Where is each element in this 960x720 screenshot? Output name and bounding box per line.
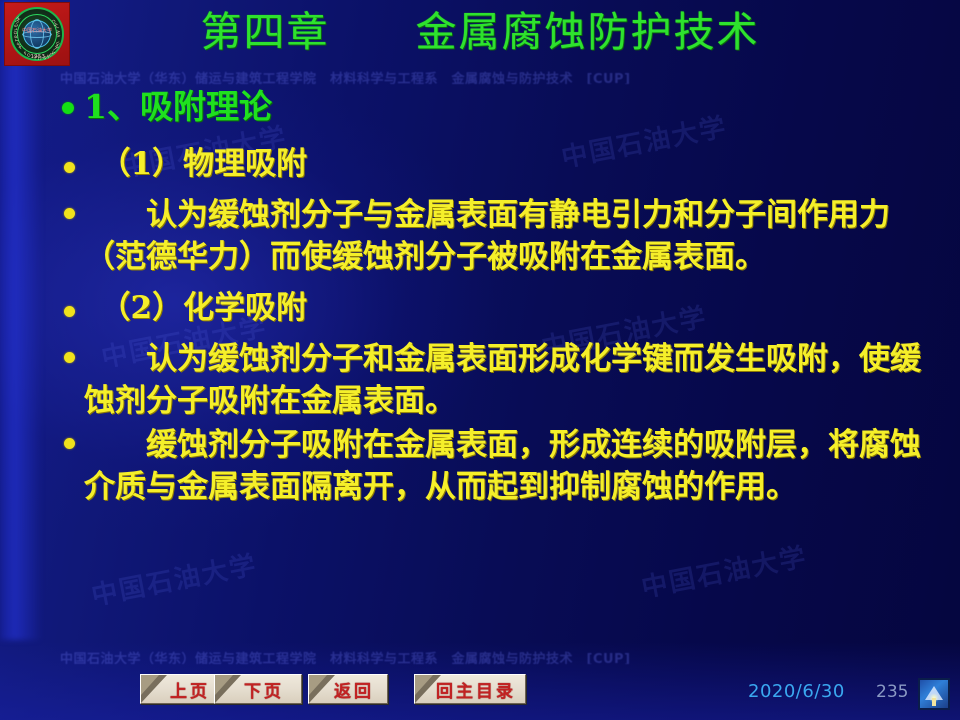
bullet-marker-icon xyxy=(62,102,74,114)
bullet-marker-icon xyxy=(64,306,75,317)
paragraph-text: 1、吸附理论 xyxy=(52,84,936,130)
slide-body: 1、吸附理论 （1）物理吸附 认为缓蚀剂分子与金属表面有静电引力和分子间作用力（… xyxy=(0,82,960,642)
bullet-paragraph: 1、吸附理论 xyxy=(0,84,960,134)
title-band: 中国石油大学 1953 CHINA UNIVERSITY OF PETROLEU… xyxy=(0,0,960,68)
paragraph-text: （1）物理吸附 xyxy=(52,140,936,188)
next-page-button[interactable]: 下页 xyxy=(214,674,302,704)
paragraph-text: 认为缓蚀剂分子和金属表面形成化学键而发生吸附，使缓蚀剂分子吸附在金属表面。 xyxy=(52,338,936,422)
page-title: 第四章 金属腐蚀防护技术 xyxy=(0,6,960,58)
slide-canvas: 中国石油大学 中国石油大学 中国石油大学 中国石油大学 中国石油大学 中国石油大… xyxy=(0,0,960,720)
bullet-paragraph: 认为缓蚀剂分子与金属表面有静电引力和分子间作用力（范德华力）而使缓蚀剂分子被吸附… xyxy=(0,194,960,278)
bullet-paragraph: 缓蚀剂分子吸附在金属表面，形成连续的吸附层，将腐蚀介质与金属表面隔离开，从而起到… xyxy=(0,424,960,508)
back-button[interactable]: 返回 xyxy=(308,674,388,704)
main-menu-button[interactable]: 回主目录 xyxy=(414,674,526,704)
tree-logo-icon xyxy=(918,678,950,710)
bullet-paragraph: 认为缓蚀剂分子和金属表面形成化学键而发生吸附，使缓蚀剂分子吸附在金属表面。 xyxy=(0,338,960,422)
paragraph-text: （2）化学吸附 xyxy=(52,284,936,332)
paragraph-text: 认为缓蚀剂分子与金属表面有静电引力和分子间作用力（范德华力）而使缓蚀剂分子被吸附… xyxy=(52,194,936,278)
slide-footer: 上页 下页 返回 回主目录 2020/6/30 235 xyxy=(0,664,960,720)
watermark-strip-bottom: 中国石油大学（华东）储运与建筑工程学院 材料科学与工程系 金属腐蚀与防护技术 [… xyxy=(60,648,910,664)
bullet-marker-icon xyxy=(64,438,75,449)
bullet-marker-icon xyxy=(64,162,75,173)
main-menu-label: 回主目录 xyxy=(415,675,525,703)
back-label: 返回 xyxy=(309,675,387,703)
page-number: 235 xyxy=(876,682,908,702)
paragraph-text: 缓蚀剂分子吸附在金属表面，形成连续的吸附层，将腐蚀介质与金属表面隔离开，从而起到… xyxy=(52,424,936,508)
bullet-paragraph: （1）物理吸附 xyxy=(0,140,960,192)
next-page-label: 下页 xyxy=(215,675,301,703)
bullet-marker-icon xyxy=(64,208,75,219)
tree-trunk-icon xyxy=(932,698,936,706)
bullet-paragraph: （2）化学吸附 xyxy=(0,284,960,336)
footer-date: 2020/6/30 xyxy=(748,681,845,702)
bullet-marker-icon xyxy=(64,352,75,363)
